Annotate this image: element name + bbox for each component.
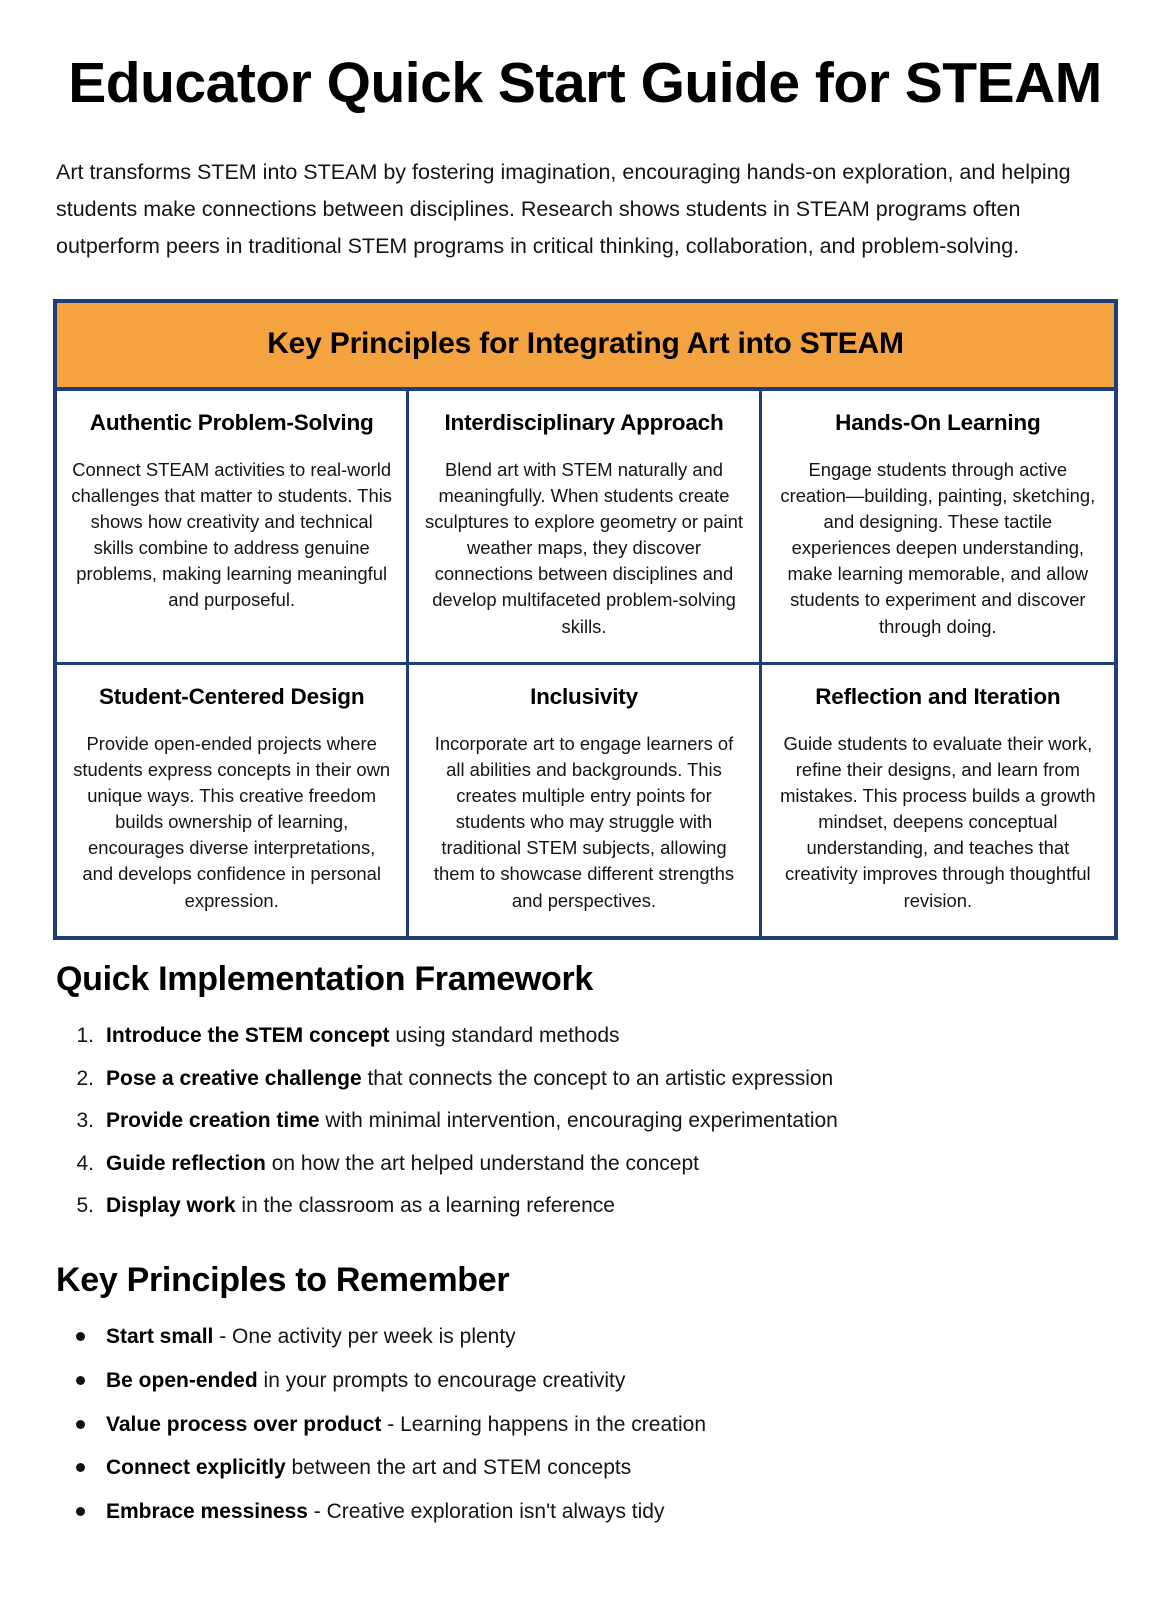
list-item-strong: Pose a creative challenge (106, 1067, 362, 1090)
list-item-rest: using standard methods (390, 1024, 620, 1047)
list-item-rest: that connects the concept to an artistic… (362, 1067, 834, 1090)
framework-list: Introduce the STEM concept using standar… (0, 1020, 1170, 1233)
list-item-strong: Value process over product (106, 1413, 381, 1436)
list-item-rest: - One activity per week is plenty (213, 1325, 515, 1348)
list-item-strong: Start small (106, 1325, 213, 1348)
list-item-strong: Embrace messiness (106, 1500, 308, 1523)
principles-list: Start small - One activity per week is p… (0, 1321, 1170, 1539)
key-principles-table: Key Principles for Integrating Art into … (53, 299, 1118, 940)
list-item: Start small - One activity per week is p… (64, 1321, 1170, 1365)
list-item-rest: in the classroom as a learning reference (236, 1194, 615, 1217)
list-item-rest: - Learning happens in the creation (381, 1413, 706, 1436)
list-item-rest: between the art and STEM concepts (286, 1456, 632, 1479)
table-row: Authentic Problem-Solving Connect STEAM … (57, 391, 1114, 665)
principle-cell-inclusivity: Inclusivity Incorporate art to engage le… (409, 665, 761, 936)
cell-body: Engage students through active creation—… (776, 457, 1100, 640)
list-item-strong: Be open-ended (106, 1369, 258, 1392)
cell-body: Connect STEAM activities to real-world c… (71, 457, 392, 614)
list-item: Pose a creative challenge that connects … (64, 1063, 1170, 1106)
cell-title: Student-Centered Design (71, 683, 392, 711)
table-header-title: Key Principles for Integrating Art into … (57, 303, 1114, 391)
principle-cell-hands-on-learning: Hands-On Learning Engage students throug… (762, 391, 1114, 665)
list-item-rest: in your prompts to encourage creativity (258, 1369, 626, 1392)
cell-title: Interdisciplinary Approach (423, 409, 744, 437)
list-item: Introduce the STEM concept using standar… (64, 1020, 1170, 1063)
intro-paragraph: Art transforms STEM into STEAM by foster… (0, 116, 1170, 265)
table-row: Student-Centered Design Provide open-end… (57, 665, 1114, 936)
cell-body: Provide open-ended projects where studen… (71, 731, 392, 914)
principle-cell-interdisciplinary-approach: Interdisciplinary Approach Blend art wit… (409, 391, 761, 665)
list-item-strong: Display work (106, 1194, 236, 1217)
cell-body: Incorporate art to engage learners of al… (423, 731, 744, 914)
cell-title: Inclusivity (423, 683, 744, 711)
principle-cell-authentic-problem-solving: Authentic Problem-Solving Connect STEAM … (57, 391, 409, 665)
list-item: Guide reflection on how the art helped u… (64, 1148, 1170, 1191)
list-item: Display work in the classroom as a learn… (64, 1190, 1170, 1233)
list-item: Value process over product - Learning ha… (64, 1409, 1170, 1453)
section-heading-principles-to-remember: Key Principles to Remember (0, 1233, 1170, 1302)
cell-body: Guide students to evaluate their work, r… (776, 731, 1100, 914)
list-item-rest: - Creative exploration isn't always tidy (308, 1500, 665, 1523)
principle-cell-student-centered-design: Student-Centered Design Provide open-end… (57, 665, 409, 936)
list-item: Be open-ended in your prompts to encoura… (64, 1365, 1170, 1409)
page-title: Educator Quick Start Guide for STEAM (0, 0, 1170, 116)
cell-title: Authentic Problem-Solving (71, 409, 392, 437)
document-page: Educator Quick Start Guide for STEAM Art… (0, 0, 1170, 1609)
cell-body: Blend art with STEM naturally and meanin… (423, 457, 744, 640)
page-bottom-margin (0, 1539, 1170, 1609)
list-item-strong: Connect explicitly (106, 1456, 286, 1479)
list-item-strong: Provide creation time (106, 1109, 320, 1132)
list-item: Provide creation time with minimal inter… (64, 1105, 1170, 1148)
list-item-strong: Guide reflection (106, 1152, 266, 1175)
list-item-rest: with minimal intervention, encouraging e… (320, 1109, 838, 1132)
principle-cell-reflection-and-iteration: Reflection and Iteration Guide students … (762, 665, 1114, 936)
list-item: Connect explicitly between the art and S… (64, 1452, 1170, 1496)
cell-title: Reflection and Iteration (776, 683, 1100, 711)
list-item-strong: Introduce the STEM concept (106, 1024, 390, 1047)
list-item-rest: on how the art helped understand the con… (266, 1152, 699, 1175)
section-heading-framework: Quick Implementation Framework (0, 940, 1170, 1001)
cell-title: Hands-On Learning (776, 409, 1100, 437)
list-item: Embrace messiness - Creative exploration… (64, 1496, 1170, 1540)
